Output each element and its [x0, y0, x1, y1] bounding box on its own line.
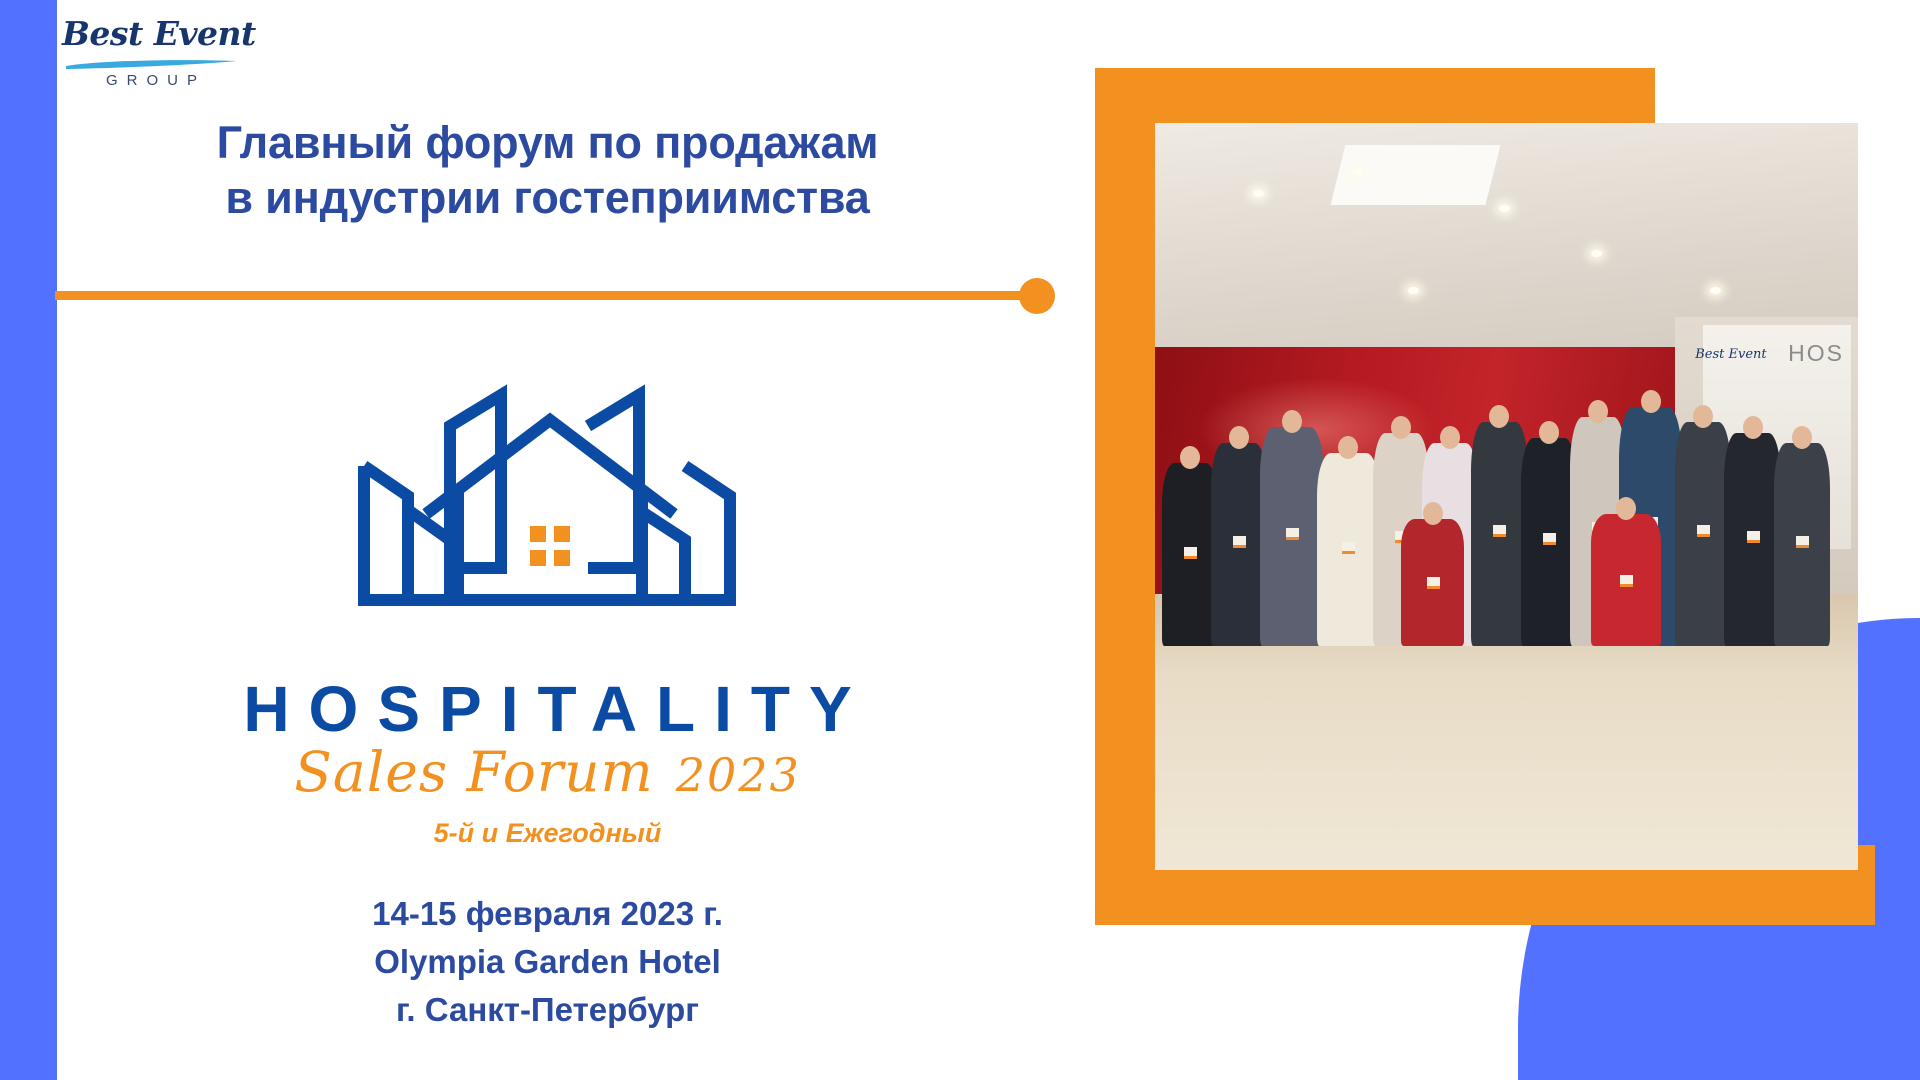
event-group-photo: HOS Best Event	[1155, 123, 1858, 870]
photo-person	[1317, 453, 1380, 646]
event-city: г. Санкт-Петербург	[55, 986, 1040, 1034]
photo-banner-text: HOS	[1788, 340, 1844, 367]
logo-swoosh-icon	[64, 58, 239, 70]
logo-subtext: GROUP	[66, 72, 246, 89]
photo-person	[1675, 422, 1731, 645]
event-edition: 5-й и Ежегодный	[55, 818, 1040, 849]
photo-person	[1471, 422, 1527, 645]
window-panes-icon	[530, 526, 570, 566]
headline-line-1: Главный форум по продажам	[217, 117, 879, 168]
event-venue: Olympia Garden Hotel	[55, 938, 1040, 986]
hospitality-building-icon	[330, 300, 770, 655]
photo-person-kneeling	[1401, 519, 1464, 646]
photo-person	[1211, 443, 1267, 646]
best-event-group-logo: Best Event GROUP	[62, 14, 252, 104]
divider-dot-icon	[1019, 278, 1055, 314]
photo-person	[1774, 443, 1830, 646]
photo-downlight	[1591, 250, 1602, 257]
slide-headline: Главный форум по продажам в индустрии го…	[55, 116, 1040, 226]
headline-line-2: в индустрии гостеприимства	[55, 171, 1040, 226]
photo-downlight	[1352, 168, 1363, 175]
event-subwordmark: Sales Forum2023	[55, 740, 1040, 804]
event-year: 2023	[654, 748, 801, 802]
left-accent-bar	[0, 0, 57, 1080]
event-wordmark: HOSPITALITY	[55, 672, 1040, 746]
logo-wordmark: Best Event	[62, 14, 252, 53]
divider-line	[55, 291, 1040, 300]
subwordmark-text: Sales Forum	[294, 740, 653, 804]
presentation-slide: Best Event GROUP Главный форум по продаж…	[0, 0, 1920, 1080]
photo-skylight	[1330, 145, 1500, 205]
photo-banner-logo: Best Event	[1695, 347, 1766, 362]
event-details: 14-15 февраля 2023 г. Olympia Garden Hot…	[55, 890, 1040, 1034]
photo-crowd	[1155, 392, 1858, 646]
photo-person	[1260, 427, 1323, 645]
event-date: 14-15 февраля 2023 г.	[55, 890, 1040, 938]
photo-person	[1521, 438, 1577, 646]
photo-person-kneeling	[1591, 514, 1661, 646]
photo-person	[1724, 433, 1780, 646]
photo-person	[1162, 463, 1218, 646]
